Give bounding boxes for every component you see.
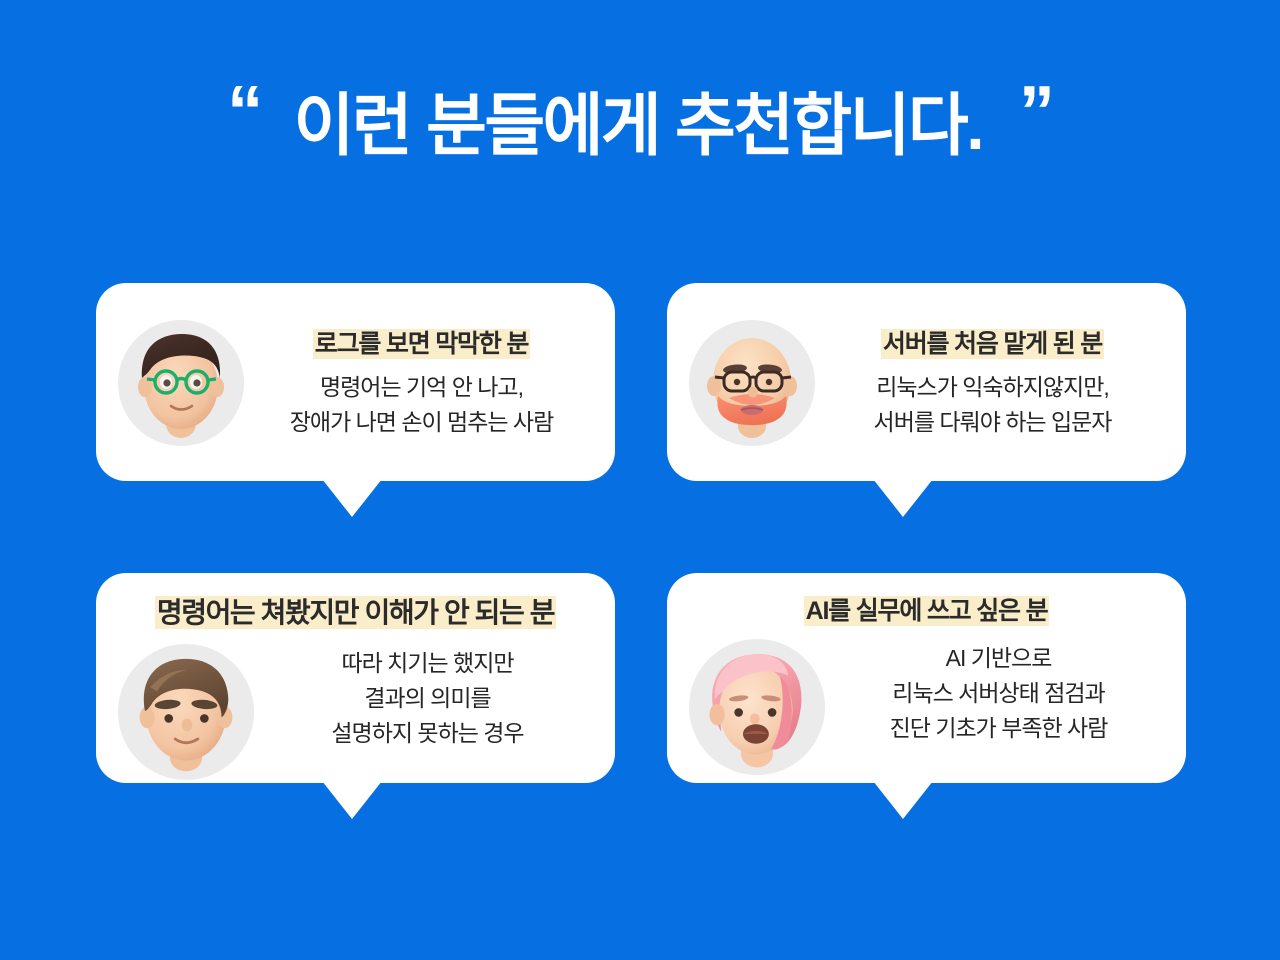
persona-card-log: 로그를 보면 막막한 분 명령어는 기억 안 나고, 장애가 나면 손이 멈추는… xyxy=(96,283,615,481)
card-content-row-command-understanding: 따라 치기는 했지만 결과의 의미를 설명하지 못하는 경우 xyxy=(118,644,593,780)
card-description-log: 명령어는 기억 안 나고, 장애가 나면 손이 멈추는 사람 xyxy=(290,370,553,440)
card-tail-server-beginner xyxy=(873,479,933,517)
card-body-command-understanding[interactable]: 명령어는 쳐봤지만 이해가 안 되는 분 xyxy=(96,573,615,783)
card-text-command-understanding: 따라 치기는 했지만 결과의 의미를 설명하지 못하는 경우 xyxy=(258,644,593,751)
persona-card-grid: 로그를 보면 막막한 분 명령어는 기억 안 나고, 장애가 나면 손이 멈추는… xyxy=(96,283,1186,783)
persona-card-command-understanding: 명령어는 쳐봤지만 이해가 안 되는 분 xyxy=(96,573,615,783)
card-heading-wrapper-log: 로그를 보면 막막한 분 xyxy=(313,326,530,362)
close-quote-icon: ” xyxy=(1019,80,1053,145)
card-tail-ai-practical xyxy=(873,781,933,819)
persona-card-ai-practical: AI를 실무에 쓰고 싶은 분 xyxy=(667,573,1186,783)
page-header: “ 이런 분들에게 추천합니다. ” xyxy=(0,78,1280,198)
card-heading-wrapper-ai-practical: AI를 실무에 쓰고 싶은 분 xyxy=(804,593,1050,629)
persona-card-server-beginner: 서버를 처음 맡게 된 분 리눅스가 익숙하지않지만, 서버를 다뤄야 하는 입… xyxy=(667,283,1186,481)
card-content-row-ai-practical: AI 기반으로 리눅스 서버상태 점검과 진단 기초가 부족한 사람 xyxy=(689,639,1164,775)
card-heading-wrapper-command-understanding: 명령어는 쳐봤지만 이해가 안 되는 분 xyxy=(155,593,556,634)
card-text-server-beginner: 서버를 처음 맡게 된 분 리눅스가 익숙하지않지만, 서버를 다뤄야 하는 입… xyxy=(821,326,1160,440)
card-heading-command-understanding: 명령어는 쳐봤지만 이해가 안 되는 분 xyxy=(155,596,556,629)
card-text-log: 로그를 보면 막막한 분 명령어는 기억 안 나고, 장애가 나면 손이 멈추는… xyxy=(250,326,589,440)
card-description-command-understanding: 따라 치기는 했지만 결과의 의미를 설명하지 못하는 경우 xyxy=(331,646,523,751)
card-heading-ai-practical: AI를 실무에 쓰고 싶은 분 xyxy=(804,596,1050,626)
card-body-ai-practical[interactable]: AI를 실무에 쓰고 싶은 분 xyxy=(667,573,1186,783)
open-quote-icon: “ xyxy=(227,80,261,145)
card-heading-server-beginner: 서버를 처음 맡게 된 분 xyxy=(881,329,1104,359)
card-heading-wrapper-server-beginner: 서버를 처음 맡게 된 분 xyxy=(881,326,1104,362)
card-description-ai-practical: AI 기반으로 리눅스 서버상태 점검과 진단 기초가 부족한 사람 xyxy=(890,641,1108,746)
card-tail-log xyxy=(322,479,382,517)
man-brown-wavy-hair-avatar xyxy=(118,644,254,780)
card-tail-command-understanding xyxy=(322,781,382,819)
man-dark-hair-green-glasses-avatar xyxy=(118,320,244,446)
page-title: 이런 분들에게 추천합니다. xyxy=(294,86,983,166)
woman-pink-hair-avatar xyxy=(689,639,825,775)
card-body-log[interactable]: 로그를 보면 막막한 분 명령어는 기억 안 나고, 장애가 나면 손이 멈추는… xyxy=(96,283,615,481)
card-heading-log: 로그를 보면 막막한 분 xyxy=(313,329,530,359)
bald-man-glasses-beard-avatar xyxy=(689,320,815,446)
card-description-server-beginner: 리눅스가 익숙하지않지만, 서버를 다뤄야 하는 입문자 xyxy=(874,370,1112,440)
card-text-ai-practical: AI 기반으로 리눅스 서버상태 점검과 진단 기초가 부족한 사람 xyxy=(829,639,1164,746)
card-body-server-beginner[interactable]: 서버를 처음 맡게 된 분 리눅스가 익숙하지않지만, 서버를 다뤄야 하는 입… xyxy=(667,283,1186,481)
